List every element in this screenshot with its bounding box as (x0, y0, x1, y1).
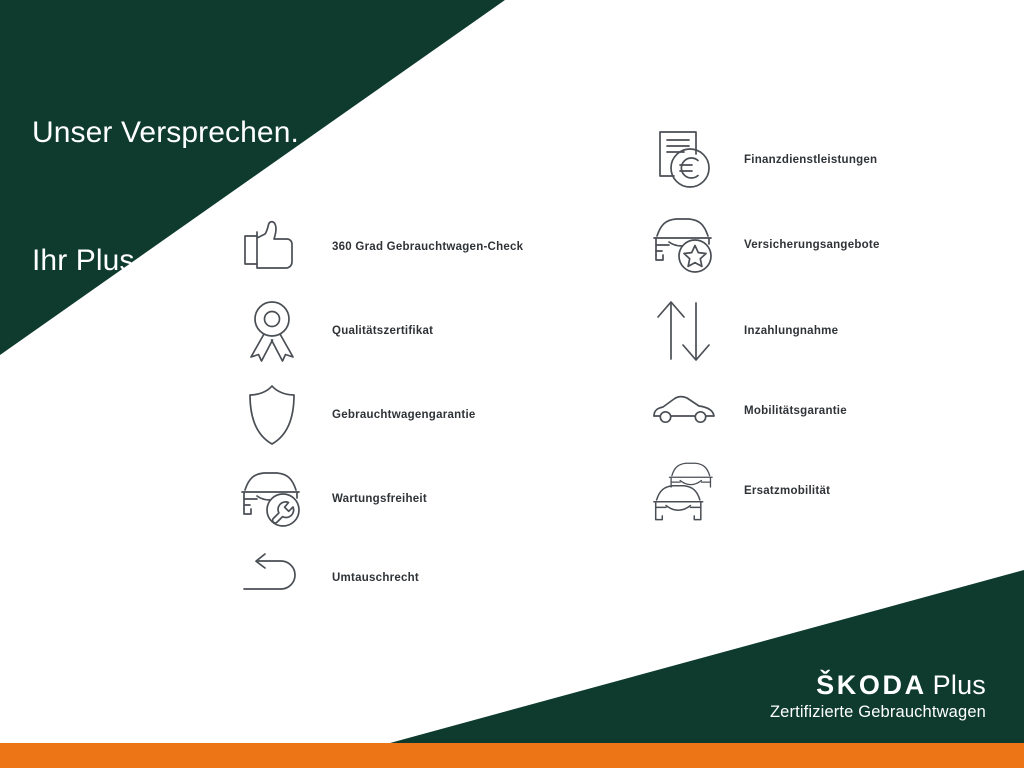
car-wrench-icon (236, 466, 308, 532)
feature-item-wartungsfreiheit: Wartungsfreiheit (236, 457, 596, 541)
brand-title: ŠKODAPlus (770, 671, 986, 700)
feature-label: Ersatzmobilität (744, 485, 830, 497)
feature-label: Versicherungsangebote (744, 239, 880, 251)
feature-item-umtauschrecht: Umtauschrecht (236, 541, 596, 615)
feature-label: Mobilitätsgarantie (744, 405, 847, 417)
document-euro-icon (648, 127, 720, 193)
feature-label: Wartungsfreiheit (332, 493, 427, 505)
feature-list-right: Finanzdienstleistungen Versicherungsange… (648, 118, 1008, 533)
feature-label: Gebrauchtwagengarantie (332, 409, 476, 421)
feature-item-ersatzmobilitaet: Ersatzmobilität (648, 449, 1008, 533)
promo-slide: Unser Versprechen. Ihr Plus. 360 Grad Ge… (0, 0, 1024, 768)
feature-item-mobilitaetsgarantie: Mobilitätsgarantie (648, 373, 1008, 449)
feature-label: Umtauschrecht (332, 572, 419, 584)
award-rosette-icon (236, 298, 308, 364)
feature-item-versicherungsangebote: Versicherungsangebote (648, 202, 1008, 288)
brand-subtitle: Zertifizierte Gebrauchtwagen (770, 703, 986, 722)
brand-lockup: ŠKODAPlus Zertifizierte Gebrauchtwagen (770, 671, 986, 722)
up-down-arrows-icon (648, 298, 720, 364)
feature-item-inzahlungnahme: Inzahlungnahme (648, 288, 1008, 373)
feature-label: Inzahlungnahme (744, 325, 838, 337)
feature-item-finanzdienstleistungen: Finanzdienstleistungen (648, 118, 1008, 202)
car-star-icon (648, 212, 720, 278)
car-side-icon (648, 378, 720, 444)
brand-plus-label: Plus (933, 670, 986, 700)
u-turn-arrow-icon (236, 545, 308, 611)
feature-label: 360 Grad Gebrauchtwagen-Check (332, 241, 523, 253)
headline-line-1: Unser Versprechen. (32, 112, 299, 155)
feature-label: Qualitätszertifikat (332, 325, 433, 337)
shield-icon (236, 382, 308, 448)
skoda-wordmark: ŠKODA (816, 670, 927, 700)
feature-label: Finanzdienstleistungen (744, 154, 877, 166)
feature-item-gebrauchtwagen-check: 360 Grad Gebrauchtwagen-Check (236, 205, 596, 289)
thumbs-up-icon (236, 214, 308, 280)
feature-item-qualitaetszertifikat: Qualitätszertifikat (236, 289, 596, 373)
feature-item-gebrauchtwagengarantie: Gebrauchtwagengarantie (236, 373, 596, 457)
two-cars-icon (648, 458, 720, 524)
feature-list-left: 360 Grad Gebrauchtwagen-Check Qualitätsz… (236, 205, 596, 615)
orange-bottom-bar (0, 743, 1024, 768)
